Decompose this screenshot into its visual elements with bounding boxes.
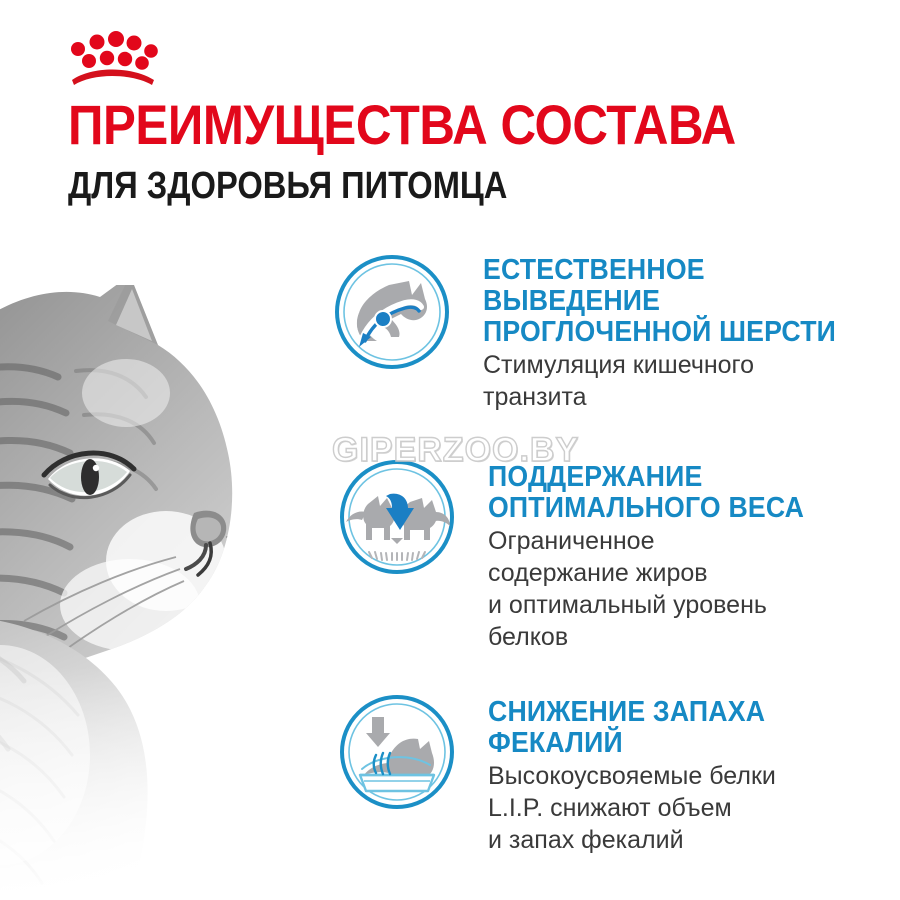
site-watermark: GIPERZOO.BY (332, 431, 579, 470)
promo-page: ПРЕИМУЩЕСТВА СОСТАВА ДЛЯ ЗДОРОВЬЯ ПИТОМЦ… (0, 0, 900, 900)
feature-text-odor: СНИЖЕНИЕ ЗАПАХА ФЕКАЛИЙ Высокоусвояемые … (488, 697, 900, 855)
feature-body-line: и оптимальный уровень (488, 590, 900, 620)
cat-hairball-transit-icon (333, 253, 451, 371)
feature-text-hairball: ЕСТЕСТВЕННОЕ ВЫВЕДЕНИЕ ПРОГЛОЧЕННОЙ ШЕРС… (483, 255, 900, 412)
feature-body-line: транзита (483, 382, 900, 412)
feature-heading-line: ОПТИМАЛЬНОГО ВЕСА (488, 493, 874, 524)
feature-body-line: Высокоусвояемые белки (488, 761, 900, 791)
page-subtitle: ДЛЯ ЗДОРОВЬЯ ПИТОМЦА (68, 166, 507, 206)
feature-heading-line: ФЕКАЛИЙ (488, 728, 874, 759)
page-title: ПРЕИМУЩЕСТВА СОСТАВА (68, 96, 736, 154)
feature-body-line: и запах фекалий (488, 825, 900, 855)
feature-body-line: L.I.P. снижают объем (488, 793, 900, 823)
feature-body-line: белков (488, 622, 900, 652)
cat-litter-box-odor-icon (338, 693, 456, 811)
feature-heading-line: ПРОГЛОЧЕННОЙ ШЕРСТИ (483, 317, 869, 348)
tabby-cat-photo (0, 285, 340, 900)
feature-heading-line: ВЫВЕДЕНИЕ (483, 286, 869, 317)
feature-body-line: содержание жиров (488, 558, 900, 588)
feature-text-weight: ПОДДЕРЖАНИЕ ОПТИМАЛЬНОГО ВЕСА Ограниченн… (488, 462, 900, 652)
feature-heading-line: ЕСТЕСТВЕННОЕ (483, 255, 869, 286)
feature-body-line: Ограниченное (488, 526, 900, 556)
royal-canin-crown-icon (66, 28, 158, 86)
feature-heading-line: СНИЖЕНИЕ ЗАПАХА (488, 697, 874, 728)
cat-weight-scale-icon (338, 458, 456, 576)
feature-body-line: Стимуляция кишечного (483, 350, 900, 380)
